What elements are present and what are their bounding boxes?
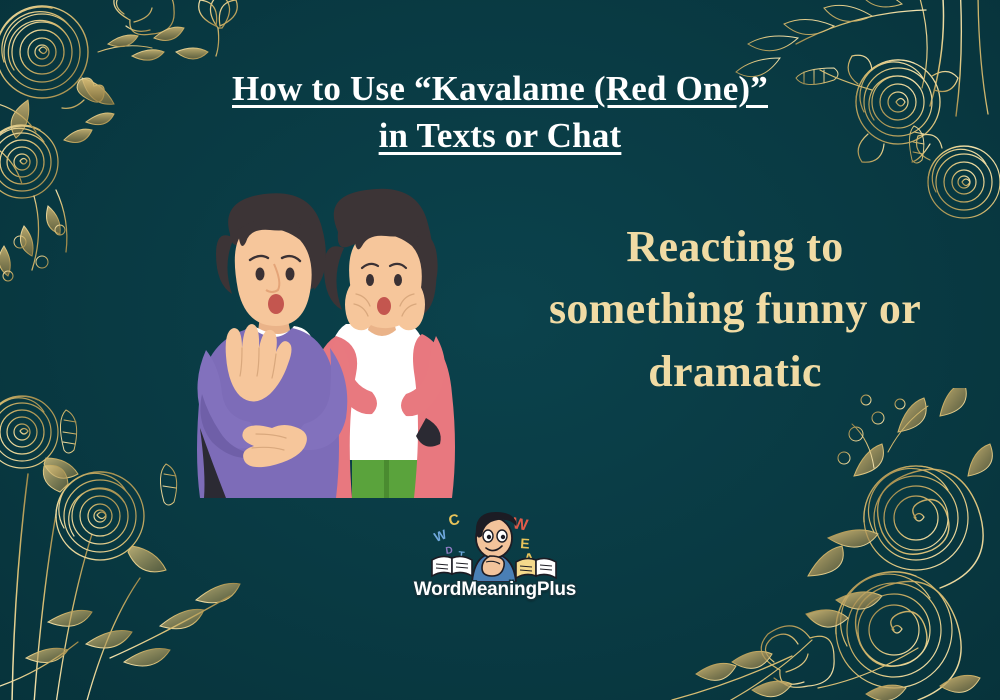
logo-letter-w-left: W: [432, 526, 449, 545]
page-title: How to Use “Kavalame (Red One)” in Texts…: [220, 66, 780, 159]
logo-wordmark: WordMeaningPlus: [380, 579, 610, 601]
logo-letter-e: E: [520, 535, 530, 552]
headline-container: Reacting to something funny or dramatic: [500, 216, 970, 403]
headline-text: Reacting to something funny or dramatic: [535, 216, 935, 403]
man-in-purple-sweater: [197, 193, 347, 498]
logo-letter-w-right: W: [511, 515, 530, 535]
thinking-man-icon: [472, 512, 516, 582]
two-shocked-people-illustration: [186, 188, 486, 498]
open-book-right-icon: [516, 558, 556, 578]
logo-letter-c: C: [447, 511, 462, 530]
open-book-left-icon: [432, 556, 472, 576]
logo-letter-d: D: [445, 545, 454, 557]
title-container: How to Use “Kavalame (Red One)” in Texts…: [0, 66, 1000, 159]
poster-canvas: How to Use “Kavalame (Red One)” in Texts…: [0, 0, 1000, 700]
wordmeaningplus-mark-icon: C W D T W E A: [420, 506, 570, 582]
logo-block: C W D T W E A: [380, 506, 610, 612]
